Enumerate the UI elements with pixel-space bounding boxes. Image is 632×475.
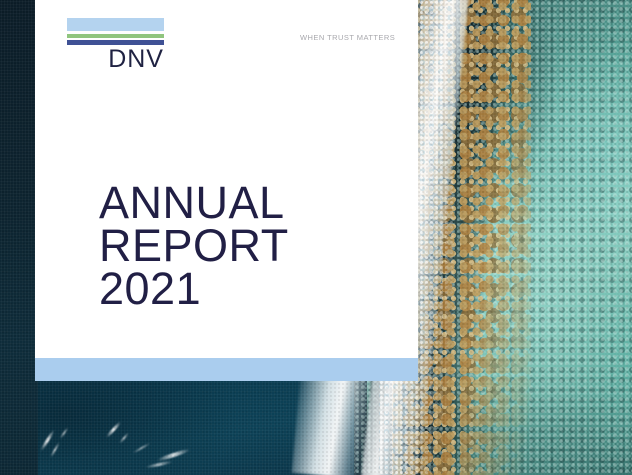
cover-title: ANNUAL REPORT 2021 [99,181,289,310]
wave-streak [119,431,130,443]
brand-tagline: WHEN TRUST MATTERS [300,33,395,42]
wave-streak [105,421,121,439]
wave-streak [156,447,191,462]
report-cover-page: DNV WHEN TRUST MATTERS ANNUAL REPORT 202… [0,0,632,475]
dnv-logo: DNV [67,18,164,73]
wave-streak [132,442,151,454]
title-line-report: REPORT [99,224,289,267]
wave-streak [59,427,69,440]
cover-white-card: DNV WHEN TRUST MATTERS ANNUAL REPORT 202… [35,0,418,381]
dnv-wordmark: DNV [67,46,164,73]
wave-streak [145,460,173,469]
logo-light-blue-bar-icon [67,18,164,31]
wave-streak [40,429,56,452]
logo-green-bar-icon [67,34,164,38]
wave-streak [50,442,61,458]
left-dark-ocean-strip [0,0,38,475]
title-line-annual: ANNUAL [99,181,289,224]
title-line-year: 2021 [99,267,289,310]
card-accent-bar [35,358,418,381]
